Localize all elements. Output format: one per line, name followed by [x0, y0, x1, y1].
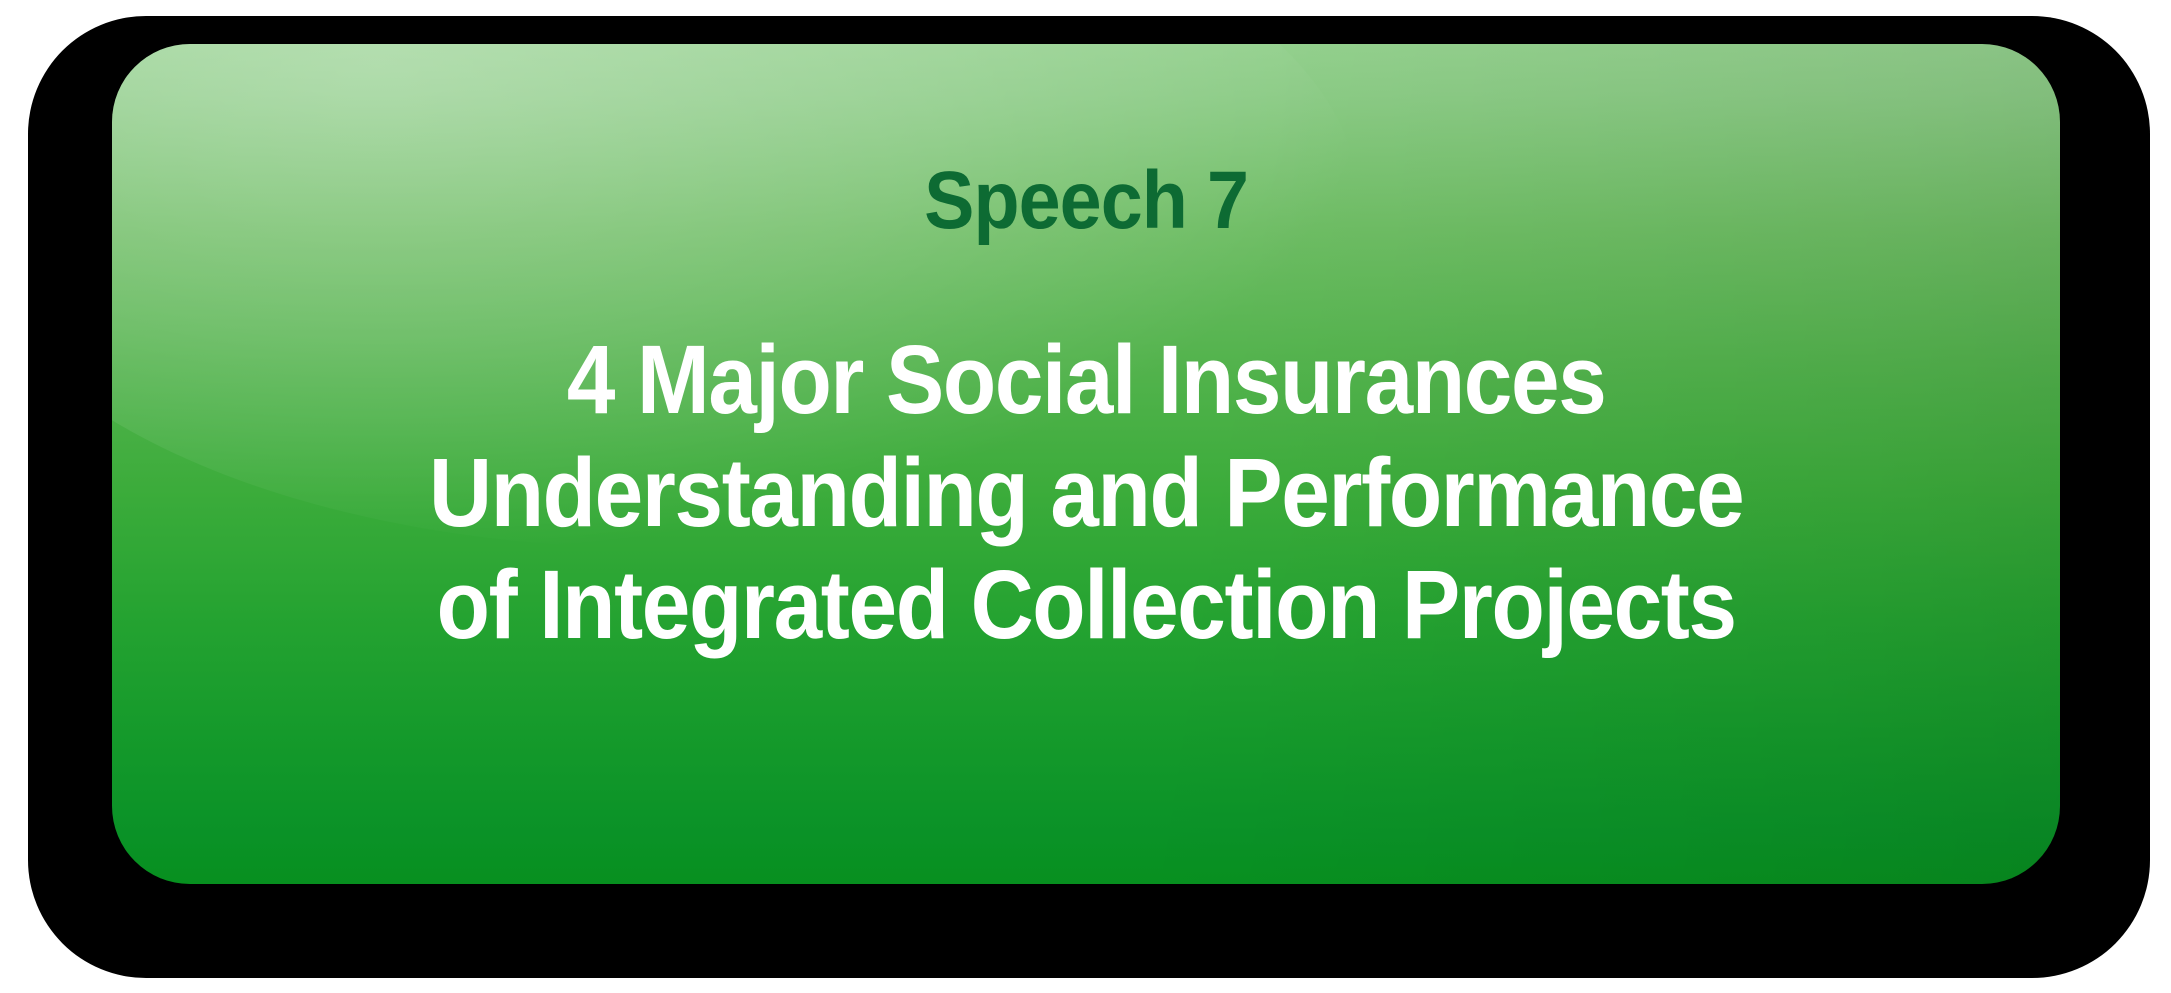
speech-number-label: Speech 7: [924, 160, 1248, 242]
speech-title-line-2: Understanding and Performance: [429, 437, 1743, 550]
speech-title: 4 Major Social Insurances Understanding …: [356, 324, 1816, 662]
card-content: Speech 7 4 Major Social Insurances Under…: [112, 44, 2060, 884]
speech-title-card[interactable]: Speech 7 4 Major Social Insurances Under…: [112, 44, 2060, 884]
speech-title-line-3: of Integrated Collection Projects: [429, 549, 1743, 662]
slide-canvas: Speech 7 4 Major Social Insurances Under…: [0, 0, 2171, 993]
speech-title-line-1: 4 Major Social Insurances: [429, 324, 1743, 437]
